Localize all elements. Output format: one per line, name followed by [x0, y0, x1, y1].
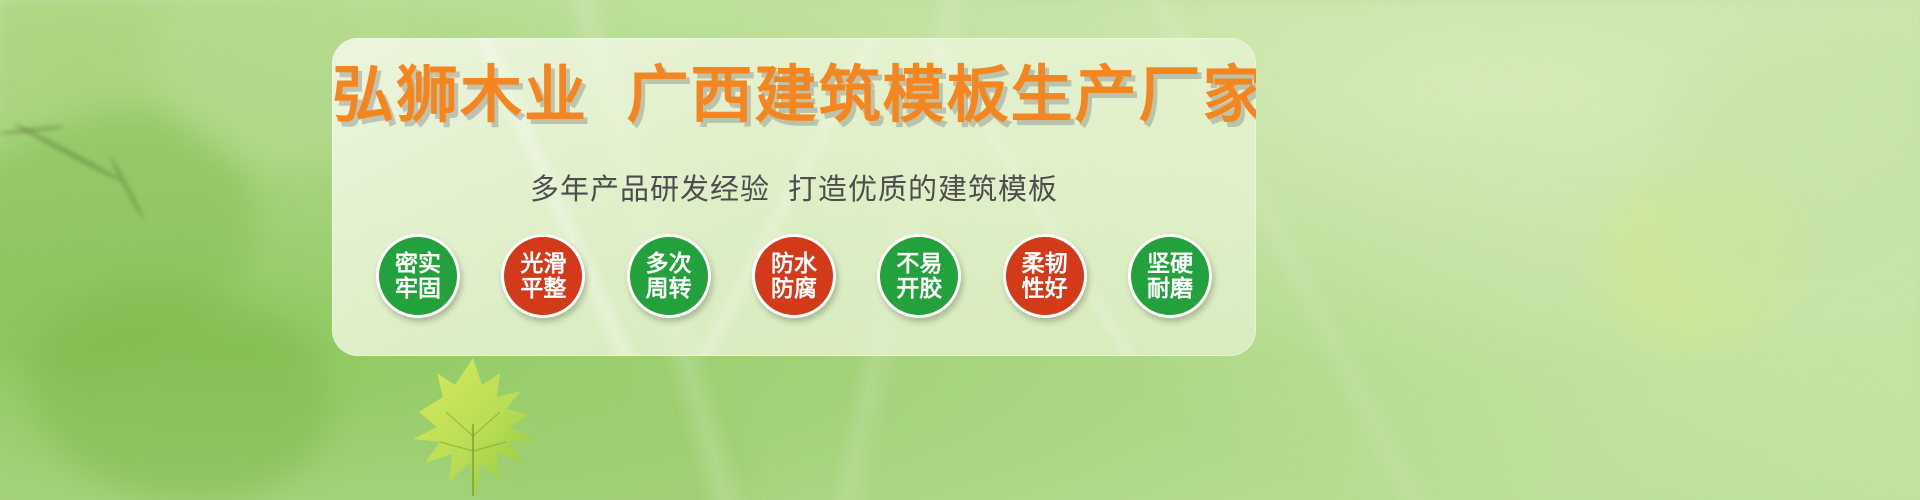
- feature-badge: 多次 周转: [627, 234, 711, 318]
- maple-leaf-icon: [398, 352, 548, 500]
- feature-badge-line2: 防腐: [771, 276, 817, 301]
- feature-badge-line2: 平整: [520, 276, 566, 301]
- feature-badge: 坚硬 耐磨: [1128, 234, 1212, 318]
- feature-badge: 不易 开胶: [877, 234, 961, 318]
- feature-badge-line2: 开胶: [896, 276, 942, 301]
- background-leaf-blob: [1660, 20, 1920, 320]
- feature-badge: 防水 防腐: [752, 234, 836, 318]
- feature-badge-line1: 防水: [771, 251, 817, 276]
- feature-badge-line1: 密实: [395, 251, 441, 276]
- feature-badge: 光滑 平整: [501, 234, 585, 318]
- page-title: 弘狮木业 广西建筑模板生产厂家: [332, 60, 1256, 131]
- feature-badge-line1: 坚硬: [1147, 251, 1193, 276]
- feature-badge-line1: 柔韧: [1022, 251, 1068, 276]
- feature-badge-line1: 不易: [896, 251, 942, 276]
- feature-badge-line2: 牢固: [395, 276, 441, 301]
- feature-badge-line2: 耐磨: [1147, 276, 1193, 301]
- feature-badge-line2: 周转: [646, 276, 692, 301]
- content-panel: 弘狮木业 广西建筑模板生产厂家 多年产品研发经验 打造优质的建筑模板 密实 牢固…: [332, 38, 1256, 356]
- feature-badge: 柔韧 性好: [1003, 234, 1087, 318]
- page-subtitle: 多年产品研发经验 打造优质的建筑模板: [332, 166, 1256, 208]
- feature-badge-row: 密实 牢固 光滑 平整 多次 周转 防水 防腐 不易 开胶 柔韧 性好: [376, 234, 1212, 318]
- feature-badge-line1: 光滑: [520, 251, 566, 276]
- feature-badge-line1: 多次: [646, 251, 692, 276]
- feature-badge-line2: 性好: [1022, 276, 1068, 301]
- feature-badge: 密实 牢固: [376, 234, 460, 318]
- promo-banner: 弘狮木业 广西建筑模板生产厂家 多年产品研发经验 打造优质的建筑模板 密实 牢固…: [0, 0, 1920, 500]
